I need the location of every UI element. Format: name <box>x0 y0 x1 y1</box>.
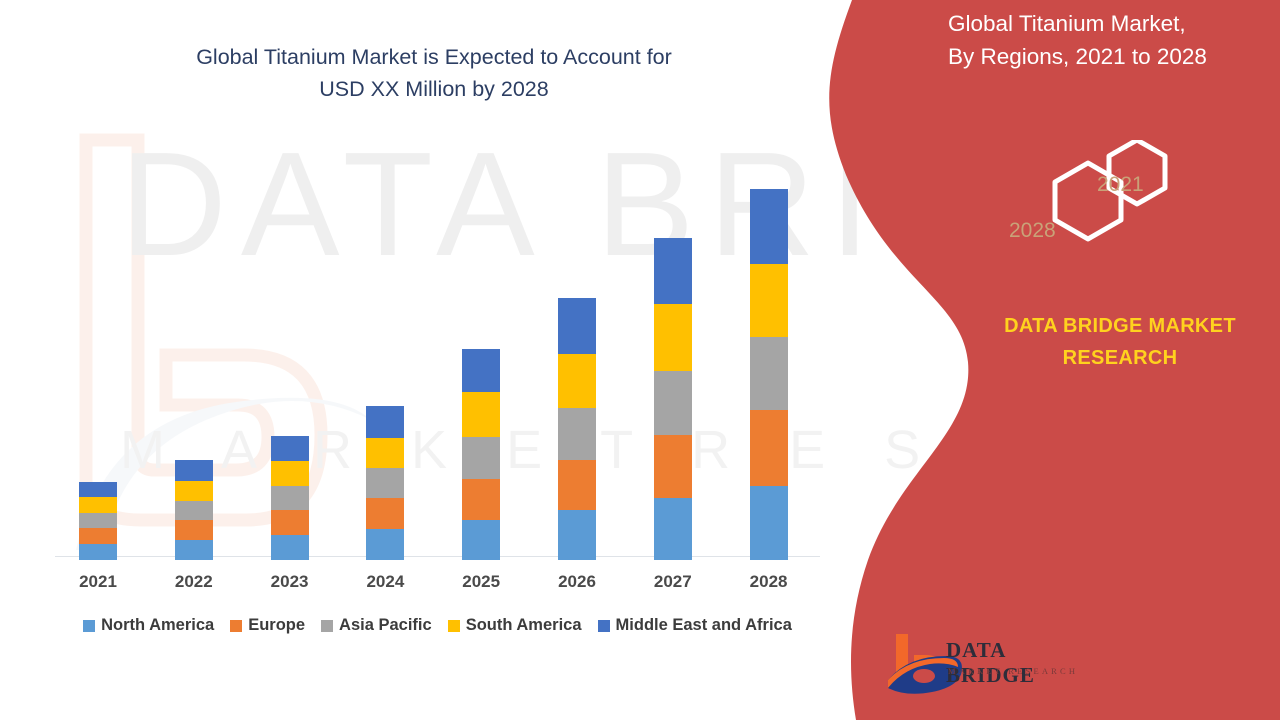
panel-title-line-1: Global Titanium Market, <box>948 8 1268 41</box>
hexagon-label-2028: 2028 <box>1009 219 1056 243</box>
data-bridge-logo: DATA BRIDGE MARKET RESEARCH <box>886 630 1098 704</box>
hexagon-label-2021: 2021 <box>1097 173 1144 197</box>
hexagon-graphic: 2021 2028 <box>985 140 1215 300</box>
logo-name: DATA BRIDGE <box>946 638 1098 688</box>
panel-title: Global Titanium Market, By Regions, 2021… <box>948 8 1268 73</box>
logo-tagline: MARKET RESEARCH <box>948 666 1078 676</box>
panel-brand-line-2: RESEARCH <box>960 342 1280 374</box>
slide-canvas: DATA BRIDGE M A R K E T R E S E A R C H … <box>0 0 1280 720</box>
panel-brand-text: DATA BRIDGE MARKET RESEARCH <box>960 310 1280 374</box>
panel-brand-line-1: DATA BRIDGE MARKET <box>960 310 1280 342</box>
panel-title-line-2: By Regions, 2021 to 2028 <box>948 41 1268 74</box>
